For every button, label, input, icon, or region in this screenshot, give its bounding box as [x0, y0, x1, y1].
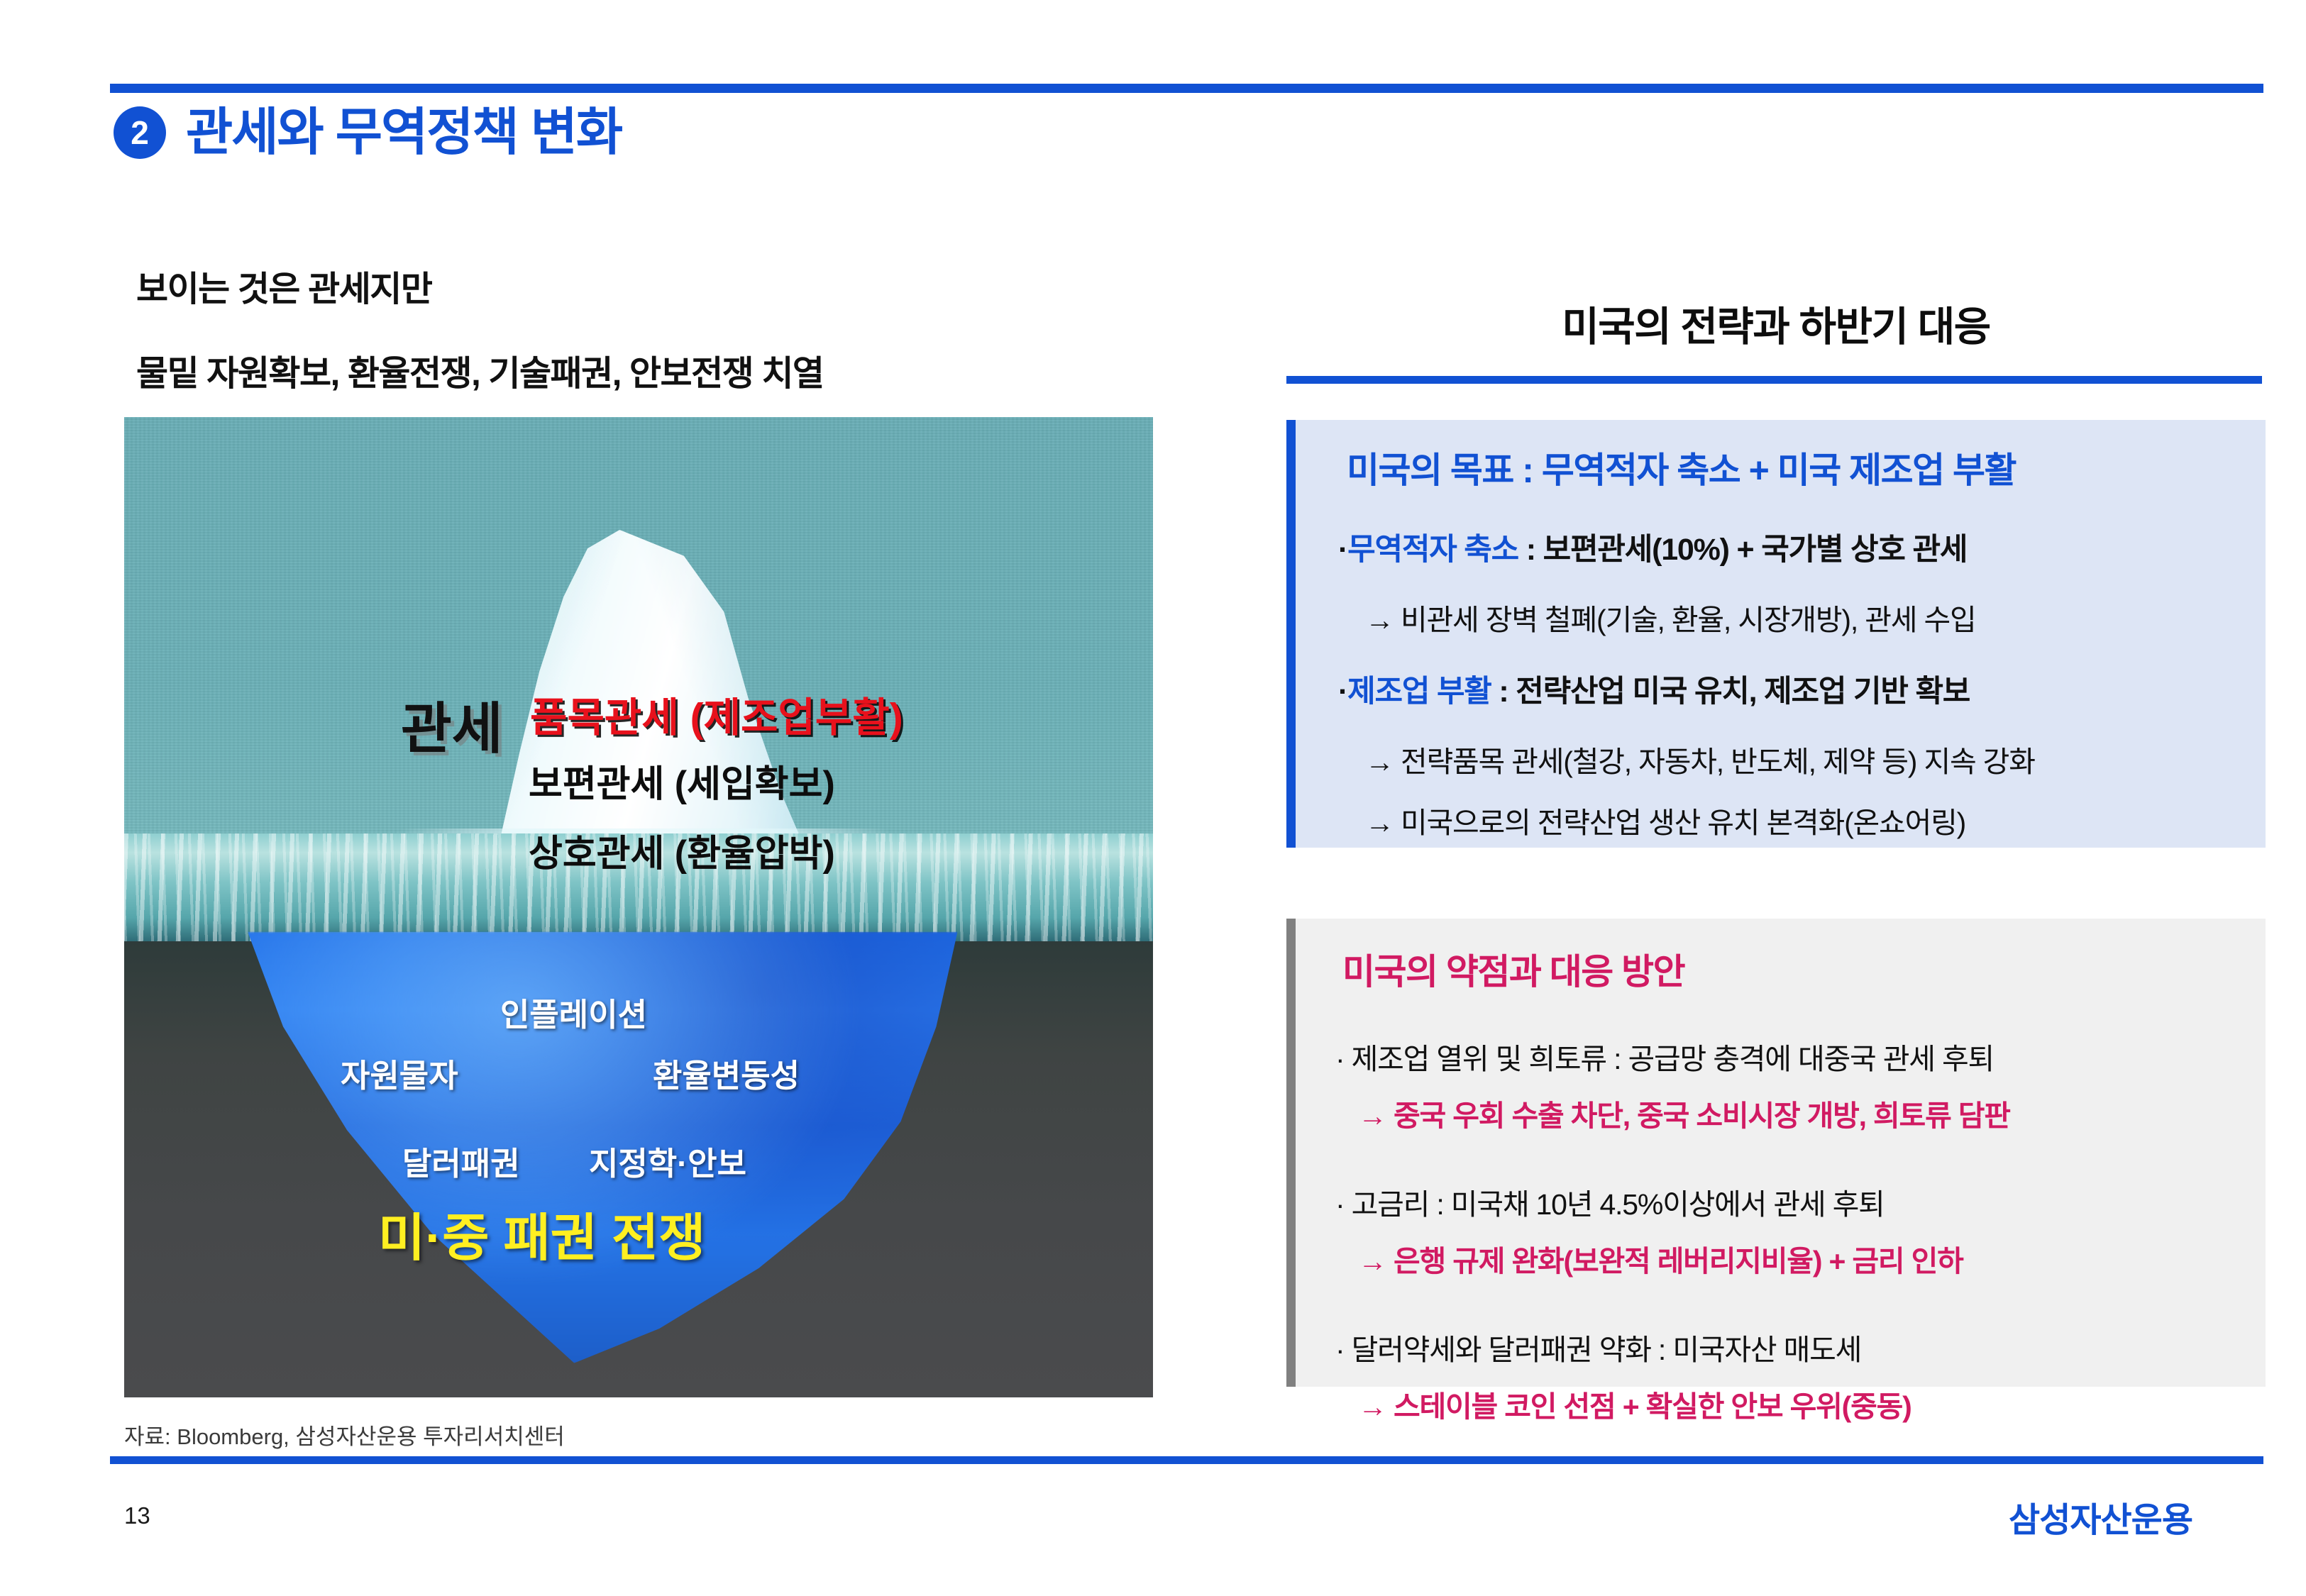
- strategy-bullet-1: ·무역적자 축소 : 보편관세(10%) + 국가별 상호 관세: [1338, 535, 1967, 565]
- strategy-bullet-1-marker: ·: [1338, 533, 1347, 567]
- weakness-row-1: · 제조업 열위 및 희토류 : 공급망 충격에 대중국 관세 후퇴: [1335, 1045, 1994, 1074]
- strategy-bullet-2-key: 제조업 부활: [1347, 675, 1491, 709]
- weakness-response-3: → 스테이블 코인 선점 + 확실한 안보 우위(중동): [1358, 1392, 1911, 1422]
- label-us-china-war: 미·중 패권 전쟁: [378, 1213, 705, 1264]
- iceberg-photo: 관세 품목관세 (제조업부활) 보편관세 (세입확보) 상호관세 (환율압박) …: [124, 417, 1153, 1397]
- label-item-tariff: 품목관세 (제조업부활): [530, 698, 903, 738]
- weakness-row-3: · 달러약세와 달러패권 약화 : 미국자산 매도세: [1335, 1336, 1861, 1365]
- strategy-panel-accent-bar: [1286, 420, 1296, 848]
- lead-line-1: 보이는 것은 관세지만: [136, 261, 431, 311]
- footer-rule: [110, 1456, 2263, 1464]
- weakness-panel-accent-bar: [1286, 919, 1296, 1387]
- strategy-panel: 미국의 목표 : 무역적자 축소 + 미국 제조업 부활 ·무역적자 축소 : …: [1286, 420, 2266, 848]
- label-geopolitics: 지정학·안보: [589, 1148, 746, 1180]
- label-fx-volatility: 환율변동성: [653, 1060, 800, 1092]
- source-note: 자료: Bloomberg, 삼성자산운용 투자리서치센터: [124, 1419, 565, 1451]
- weakness-title: 미국의 약점과 대응 방안: [1342, 954, 1684, 990]
- weakness-row-2: · 고금리 : 미국채 10년 4.5%이상에서 관세 후퇴: [1335, 1190, 1885, 1219]
- section-number-badge: 2: [114, 106, 166, 159]
- label-dollar-hegemony: 달러패권: [402, 1148, 520, 1180]
- strategy-bullet-2-rest: : 전략산업 미국 유치, 제조업 기반 확보: [1491, 675, 1970, 709]
- weakness-response-1: → 중국 우회 수출 차단, 중국 소비시장 개방, 희토류 담판: [1358, 1102, 2010, 1131]
- weakness-panel: 미국의 약점과 대응 방안 · 제조업 열위 및 희토류 : 공급망 충격에 대…: [1286, 919, 2266, 1387]
- label-resources: 자원물자: [341, 1060, 458, 1092]
- strategy-bullet-2: ·제조업 부활 : 전략산업 미국 유치, 제조업 기반 확보: [1338, 677, 1970, 707]
- right-panel-heading: 미국의 전략과 하반기 대응: [1286, 294, 2266, 353]
- strategy-sub-1: → 비관세 장벽 철폐(기술, 환율, 시장개방), 관세 수입: [1365, 606, 1976, 635]
- label-reciprocal-tariff: 상호관세 (환율압박): [529, 836, 835, 872]
- slide-header: 2 관세와 무역정책 변화: [114, 106, 622, 159]
- weakness-panel-body: 미국의 약점과 대응 방안 · 제조업 열위 및 희토류 : 공급망 충격에 대…: [1296, 919, 2266, 1387]
- header-rule: [110, 84, 2263, 93]
- strategy-sub-2: → 전략품목 관세(철강, 자동차, 반도체, 제약 등) 지속 강화: [1365, 748, 2035, 777]
- lead-line-2: 물밑 자원확보, 환율전쟁, 기술패권, 안보전쟁 치열: [136, 345, 824, 396]
- brand-logo: 삼성자산운용: [2009, 1492, 2192, 1541]
- strategy-title: 미국의 목표 : 무역적자 축소 + 미국 제조업 부활: [1347, 453, 2016, 488]
- weakness-response-2: → 은행 규제 완화(보완적 레버리지비율) + 금리 인하: [1358, 1247, 1963, 1276]
- strategy-bullet-2-marker: ·: [1338, 675, 1347, 709]
- label-tariff: 관세: [401, 701, 503, 756]
- slide: 2 관세와 무역정책 변화 보이는 것은 관세지만 물밑 자원확보, 환율전쟁,…: [0, 0, 2306, 1596]
- strategy-bullet-1-rest: : 보편관세(10%) + 국가별 상호 관세: [1518, 533, 1967, 567]
- label-inflation: 인플레이션: [500, 999, 647, 1031]
- strategy-panel-body: 미국의 목표 : 무역적자 축소 + 미국 제조업 부활 ·무역적자 축소 : …: [1296, 420, 2266, 848]
- page-title: 관세와 무역정책 변화: [186, 107, 622, 158]
- strategy-sub-3: → 미국으로의 전략산업 생산 유치 본격화(온쇼어링): [1365, 809, 1965, 838]
- right-panel-rule: [1286, 376, 2262, 384]
- page-number: 13: [124, 1502, 150, 1529]
- label-universal-tariff: 보편관세 (세입확보): [529, 766, 835, 803]
- strategy-bullet-1-key: 무역적자 축소: [1347, 533, 1518, 567]
